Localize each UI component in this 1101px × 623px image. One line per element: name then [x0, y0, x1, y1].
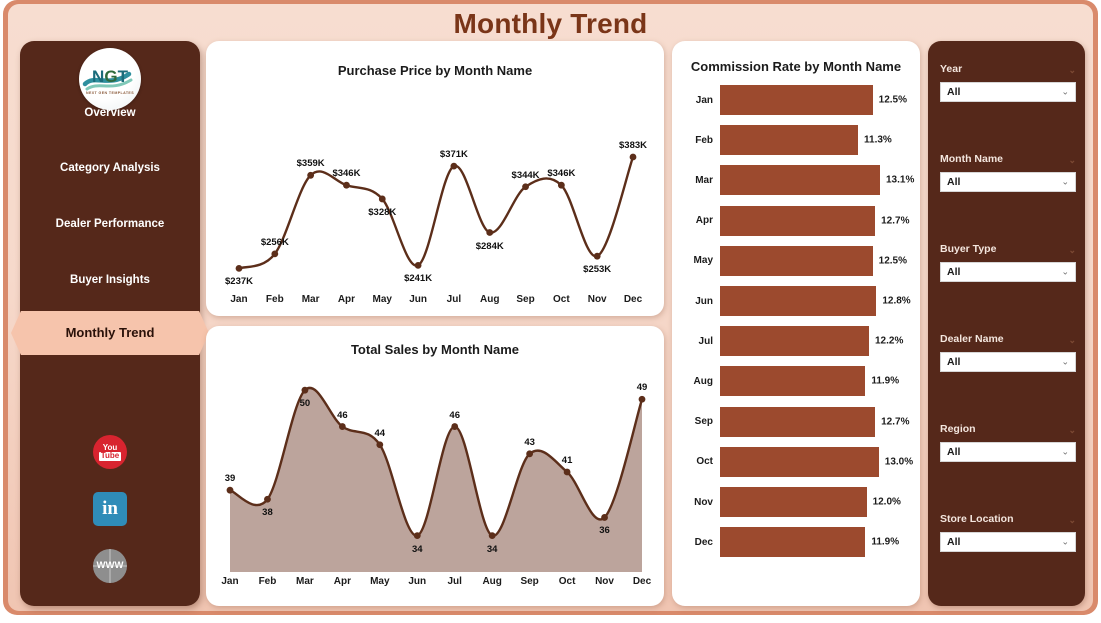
slicer-buyer-type: Buyer Type⌄All⌄	[940, 243, 1076, 282]
bar-fill	[720, 447, 879, 477]
bar-row[interactable]: Dec11.9%	[690, 527, 902, 557]
svg-text:NEXT GEN TEMPLATES: NEXT GEN TEMPLATES	[86, 91, 134, 95]
chevron-down-icon[interactable]: ⌄	[1068, 515, 1076, 526]
slicer-month-name: Month Name⌄All⌄	[940, 153, 1076, 192]
data-label: $328K	[359, 207, 405, 218]
chart-title: Commission Rate by Month Name	[672, 59, 920, 74]
bar-value-label: 13.1%	[880, 175, 914, 186]
bar-fill	[720, 286, 876, 316]
bar-fill	[720, 246, 873, 276]
x-axis-tick: Jun	[398, 294, 438, 305]
bar-value-label: 12.8%	[876, 296, 910, 307]
chevron-down-icon[interactable]: ⌄	[1061, 87, 1069, 98]
bar-track: 11.9%	[720, 366, 902, 396]
bar-value-label: 12.5%	[873, 255, 907, 266]
slicer-dropdown[interactable]: All⌄	[940, 442, 1076, 462]
slicer-title: Year⌄	[940, 63, 1076, 75]
x-axis-tick: Feb	[255, 294, 295, 305]
chevron-down-icon[interactable]: ⌄	[1068, 65, 1076, 76]
bar-track: 11.3%	[720, 125, 902, 155]
x-axis-tick: Sep	[510, 576, 550, 587]
data-label: 41	[544, 455, 590, 466]
data-label: $346K	[323, 168, 369, 179]
chevron-down-icon[interactable]: ⌄	[1061, 447, 1069, 458]
bar-track: 12.8%	[720, 286, 902, 316]
bar-category-label: Jan	[690, 95, 720, 106]
bar-fill	[720, 527, 865, 557]
sidebar-item-label: Overview	[84, 107, 135, 119]
x-axis-tick: Oct	[541, 294, 581, 305]
dashboard-page: Monthly Trend NGT NEXT GEN TEMPLATES Ove…	[8, 4, 1093, 611]
sidebar-item-category-analysis[interactable]: Category Analysis	[20, 162, 200, 174]
x-axis-tick: Sep	[506, 294, 546, 305]
x-axis-tick: May	[362, 294, 402, 305]
sidebar-item-label: Dealer Performance	[56, 218, 165, 230]
chevron-down-icon[interactable]: ⌄	[1061, 177, 1069, 188]
bar-value-label: 12.2%	[869, 336, 903, 347]
bar-row[interactable]: Feb11.3%	[690, 125, 902, 155]
slicer-value: All	[947, 266, 960, 278]
youtube-icon[interactable]: You Tube	[93, 435, 127, 469]
linkedin-icon[interactable]: in	[93, 492, 127, 526]
slicer-title: Buyer Type⌄	[940, 243, 1076, 255]
slicer-value: All	[947, 536, 960, 548]
chevron-down-icon[interactable]: ⌄	[1068, 155, 1076, 166]
slicer-title: Region⌄	[940, 423, 1076, 435]
purchase-price-chart-card: Purchase Price by Month Name $237K$256K$…	[206, 41, 664, 316]
slicer-dealer-name: Dealer Name⌄All⌄	[940, 333, 1076, 372]
bar-value-label: 12.7%	[875, 215, 909, 226]
bar-row[interactable]: Oct13.0%	[690, 447, 902, 477]
sidebar-item-label: Category Analysis	[60, 162, 160, 174]
bar-fill	[720, 326, 869, 356]
data-label: 50	[282, 398, 328, 409]
bar-row[interactable]: Aug11.9%	[690, 366, 902, 396]
x-axis-tick: Apr	[326, 294, 366, 305]
data-label: $371K	[431, 149, 477, 160]
x-axis-tick: Dec	[613, 294, 653, 305]
linkedin-label: in	[102, 498, 118, 519]
x-axis-tick: Apr	[322, 576, 362, 587]
x-axis-tick: Jan	[219, 294, 259, 305]
bar-category-label: Sep	[690, 416, 720, 427]
data-label: 44	[357, 428, 403, 439]
data-label: $253K	[574, 264, 620, 275]
x-axis-tick: Aug	[470, 294, 510, 305]
youtube-label-bottom: Tube	[99, 452, 122, 461]
bar-row[interactable]: Apr12.7%	[690, 206, 902, 236]
bar-fill	[720, 165, 880, 195]
bar-category-label: Jul	[690, 336, 720, 347]
bar-category-label: Apr	[690, 215, 720, 226]
chevron-down-icon[interactable]: ⌄	[1061, 357, 1069, 368]
slicer-title: Month Name⌄	[940, 153, 1076, 165]
bar-track: 12.5%	[720, 85, 902, 115]
data-label: $383K	[610, 140, 656, 151]
bar-fill	[720, 125, 858, 155]
x-axis-tick: Nov	[585, 576, 625, 587]
data-label: 46	[319, 410, 365, 421]
data-label: $346K	[538, 168, 584, 179]
filter-panel: Year⌄All⌄Month Name⌄All⌄Buyer Type⌄All⌄D…	[928, 41, 1085, 606]
sidebar-item-monthly-trend[interactable]: Monthly Trend	[11, 311, 209, 355]
slicer-dropdown[interactable]: All⌄	[940, 262, 1076, 282]
x-axis-tick: Oct	[547, 576, 587, 587]
sidebar-item-label: Monthly Trend	[66, 325, 155, 340]
bar-track: 12.7%	[720, 206, 902, 236]
bar-value-label: 13.0%	[879, 456, 913, 467]
bar-category-label: Feb	[690, 135, 720, 146]
bar-value-label: 12.7%	[875, 416, 909, 427]
website-globe-icon[interactable]: WWW	[93, 549, 127, 583]
bar-track: 12.2%	[720, 326, 902, 356]
data-label: 43	[507, 437, 553, 448]
bar-category-label: Dec	[690, 537, 720, 548]
sidebar-item-label: Buyer Insights	[70, 274, 150, 286]
x-axis-tick: Jun	[397, 576, 437, 587]
svg-text:NGT: NGT	[92, 67, 129, 86]
bar-category-label: Jun	[690, 296, 720, 307]
bar-value-label: 11.3%	[858, 135, 892, 146]
slicer-store-location: Store Location⌄All⌄	[940, 513, 1076, 552]
bar-category-label: Nov	[690, 497, 720, 508]
x-axis-tick: Mar	[291, 294, 331, 305]
x-axis-tick: Nov	[577, 294, 617, 305]
slicer-value: All	[947, 356, 960, 368]
chevron-down-icon[interactable]: ⌄	[1068, 335, 1076, 346]
slicer-dropdown[interactable]: All⌄	[940, 82, 1076, 102]
bar-category-label: Aug	[690, 376, 720, 387]
x-axis-tick: Feb	[247, 576, 287, 587]
bar-value-label: 11.9%	[865, 537, 899, 548]
slicer-year: Year⌄All⌄	[940, 63, 1076, 102]
bar-track: 12.0%	[720, 487, 902, 517]
data-label: 38	[244, 507, 290, 518]
slicer-value: All	[947, 86, 960, 98]
slicer-title: Store Location⌄	[940, 513, 1076, 525]
slicer-title: Dealer Name⌄	[940, 333, 1076, 345]
slicer-dropdown[interactable]: All⌄	[940, 532, 1076, 552]
website-label: WWW	[97, 560, 124, 571]
x-axis-tick: Aug	[472, 576, 512, 587]
chevron-down-icon[interactable]: ⌄	[1068, 425, 1076, 436]
bar-value-label: 12.0%	[867, 497, 901, 508]
sidebar-item-overview[interactable]: Overview	[20, 107, 200, 119]
data-label: 46	[432, 410, 478, 421]
bar-fill	[720, 206, 875, 236]
slicer-region: Region⌄All⌄	[940, 423, 1076, 462]
bar-category-label: Mar	[690, 175, 720, 186]
x-axis-tick: May	[360, 576, 400, 587]
bar-value-label: 11.9%	[865, 376, 899, 387]
commission-rate-chart-card: Commission Rate by Month Name Jan12.5%Fe…	[672, 41, 920, 606]
bar-row[interactable]: Sep12.7%	[690, 407, 902, 437]
data-label: 36	[582, 525, 628, 536]
bar-track: 11.9%	[720, 527, 902, 557]
data-label: $256K	[252, 237, 298, 248]
slicer-dropdown[interactable]: All⌄	[940, 352, 1076, 372]
bar-row[interactable]: Jan12.5%	[690, 85, 902, 115]
chevron-down-icon[interactable]: ⌄	[1068, 245, 1076, 256]
data-label: $284K	[467, 241, 513, 252]
bar-row[interactable]: Jun12.8%	[690, 286, 902, 316]
bar-fill	[720, 487, 867, 517]
bar-track: 13.0%	[720, 447, 902, 477]
bar-row[interactable]: Jul12.2%	[690, 326, 902, 356]
dashboard-frame: Monthly Trend NGT NEXT GEN TEMPLATES Ove…	[3, 0, 1098, 615]
bar-fill	[720, 85, 873, 115]
total-sales-area	[206, 326, 664, 606]
total-sales-chart-card: Total Sales by Month Name 39385046443446…	[206, 326, 664, 606]
bar-track: 12.7%	[720, 407, 902, 437]
bar-category-label: May	[690, 255, 720, 266]
x-axis-tick: Jul	[434, 294, 474, 305]
data-label: $241K	[395, 273, 441, 284]
slicer-dropdown[interactable]: All⌄	[940, 172, 1076, 192]
slicer-value: All	[947, 176, 960, 188]
sidebar-item-dealer-performance[interactable]: Dealer Performance	[20, 218, 200, 230]
bar-fill	[720, 407, 875, 437]
slicer-value: All	[947, 446, 960, 458]
data-label: 34	[394, 544, 440, 555]
bar-track: 12.5%	[720, 246, 902, 276]
bar-row[interactable]: Nov12.0%	[690, 487, 902, 517]
data-label: 49	[619, 382, 665, 393]
data-label: 39	[207, 473, 253, 484]
bar-track: 13.1%	[720, 165, 902, 195]
bar-category-label: Oct	[690, 456, 720, 467]
data-label: $237K	[216, 276, 262, 287]
bar-value-label: 12.5%	[873, 95, 907, 106]
bar-fill	[720, 366, 865, 396]
x-axis-tick: Jan	[210, 576, 250, 587]
x-axis-tick: Jul	[435, 576, 475, 587]
sidebar: NGT NEXT GEN TEMPLATES Overview Category…	[20, 41, 200, 606]
chevron-down-icon[interactable]: ⌄	[1061, 537, 1069, 548]
x-axis-tick: Dec	[622, 576, 662, 587]
data-label: 34	[469, 544, 515, 555]
sidebar-item-buyer-insights[interactable]: Buyer Insights	[20, 274, 200, 286]
bar-row[interactable]: Mar13.1%	[690, 165, 902, 195]
bar-row[interactable]: May12.5%	[690, 246, 902, 276]
page-title: Monthly Trend	[8, 8, 1093, 40]
x-axis-tick: Mar	[285, 576, 325, 587]
ngt-logo: NGT NEXT GEN TEMPLATES	[79, 48, 141, 110]
chevron-down-icon[interactable]: ⌄	[1061, 267, 1069, 278]
